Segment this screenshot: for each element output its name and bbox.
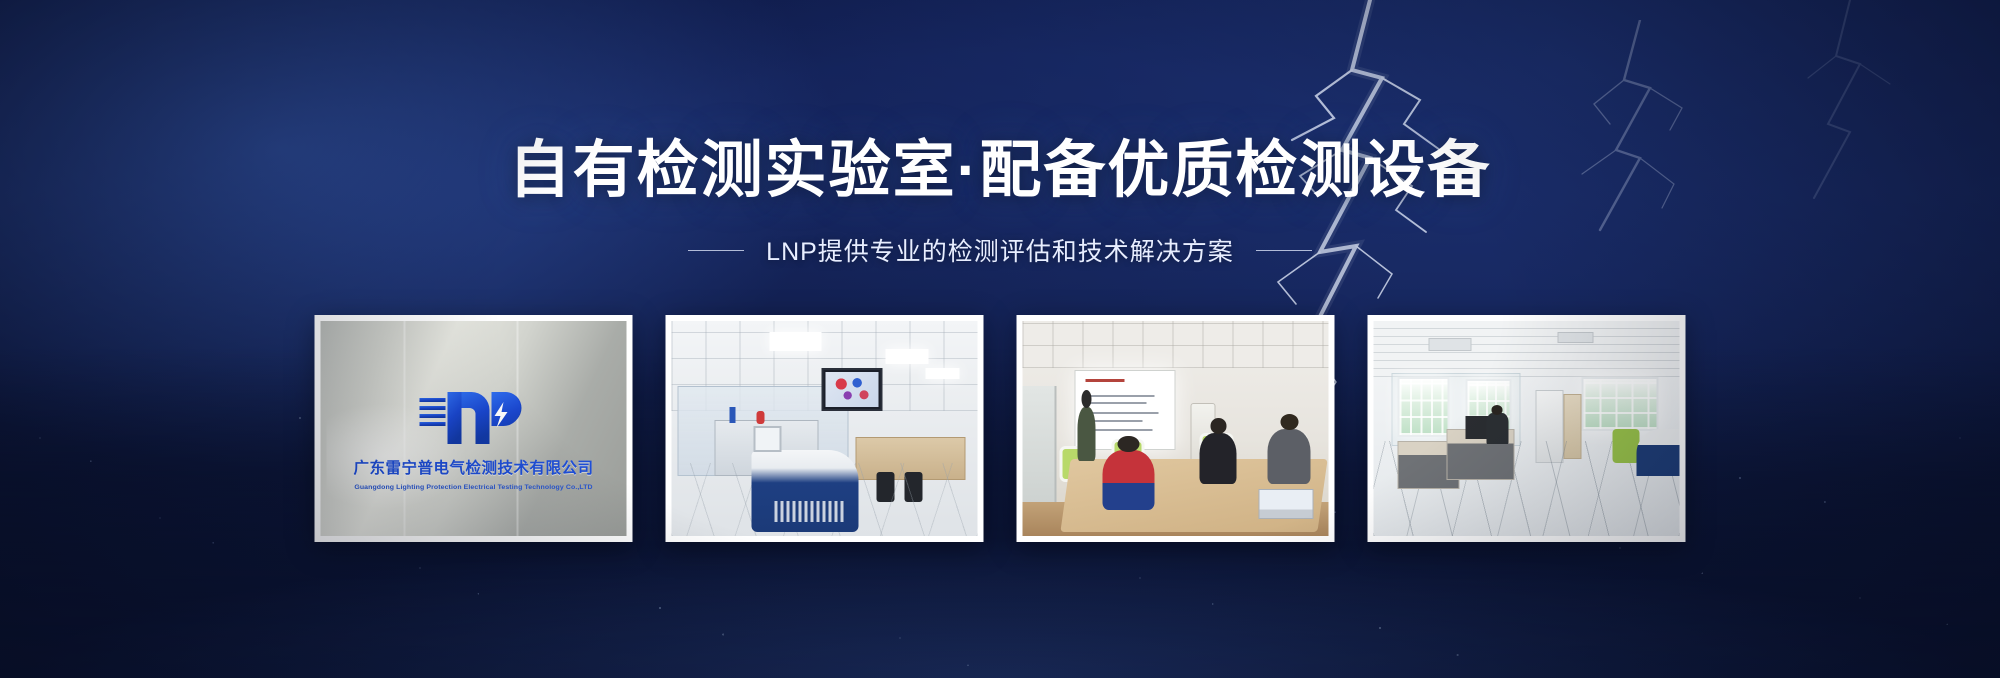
vignette-overlay	[0, 0, 2000, 678]
hero-banner: 自有检测实验室·配备优质检测设备 LNP提供专业的检测评估和技术解决方案	[0, 0, 2000, 678]
